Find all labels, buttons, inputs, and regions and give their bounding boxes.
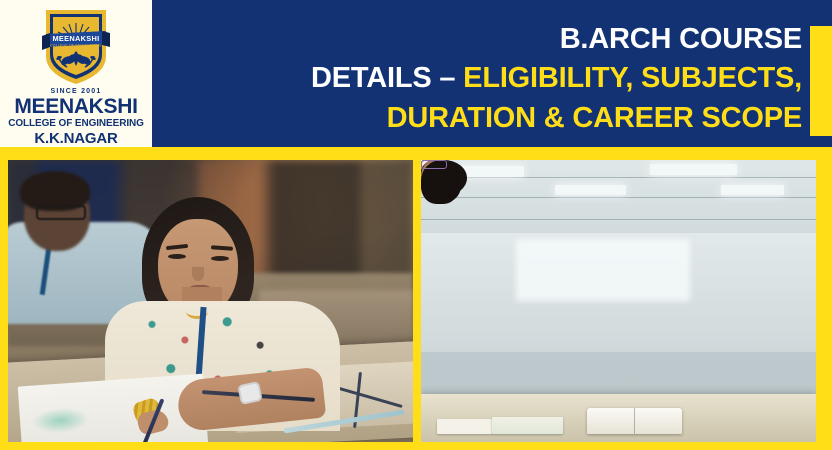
student-wristwatch [237,381,263,405]
student-eye-right [211,256,229,261]
title-line-3-highlight: DURATION & CAREER SCOPE [387,102,802,134]
title-line-1: B.ARCH COURSE [560,23,802,55]
logo-since-text: SINCE 2001 [8,88,144,95]
table-book [437,419,492,433]
svg-text:MEENAKSHI: MEENAKSHI [52,34,99,43]
photo-strip [0,152,832,450]
background-student-glasses-icon [36,205,86,220]
ceiling-grid-line [421,197,816,198]
classroom-whiteboard [516,239,690,301]
student-glasses-icon [421,160,447,169]
drafting-paper-green-wash [31,406,89,435]
college-logo[interactable]: MEENAKSHI COLLEGE OF ENGINEERING SINCE 2… [0,0,152,147]
header-accent-bar [810,26,832,136]
photo-student-group [421,160,816,442]
table-open-book [587,408,682,433]
banner-title: B.ARCH COURSE DETAILS – ELIGIBILITY, SUB… [160,20,802,138]
ceiling-light-panel [650,164,737,175]
table-book [492,417,563,434]
svg-text:COLLEGE OF ENGINEERING: COLLEGE OF ENGINEERING [50,44,102,48]
logo-subtitle-text: COLLEGE OF ENGINEERING [8,119,144,129]
ceiling-grid-line [421,219,816,220]
photo-student-drafting [8,160,413,442]
logo-branch-text: K.K.NAGAR [8,131,144,146]
meenakshi-crest-icon: MEENAKSHI COLLEGE OF ENGINEERING [40,6,112,86]
banner-header: MEENAKSHI COLLEGE OF ENGINEERING SINCE 2… [0,0,832,152]
banner: MEENAKSHI COLLEGE OF ENGINEERING SINCE 2… [0,0,832,450]
logo-name-text: MEENAKSHI [8,96,144,117]
title-line-2-prefix: DETAILS – [311,62,463,94]
ceiling-light-panel [555,185,626,195]
ceiling-grid-line [421,177,816,178]
title-line-2-highlight: ELIGIBILITY, SUBJECTS, [463,62,802,94]
ceiling-light-panel [721,185,784,195]
